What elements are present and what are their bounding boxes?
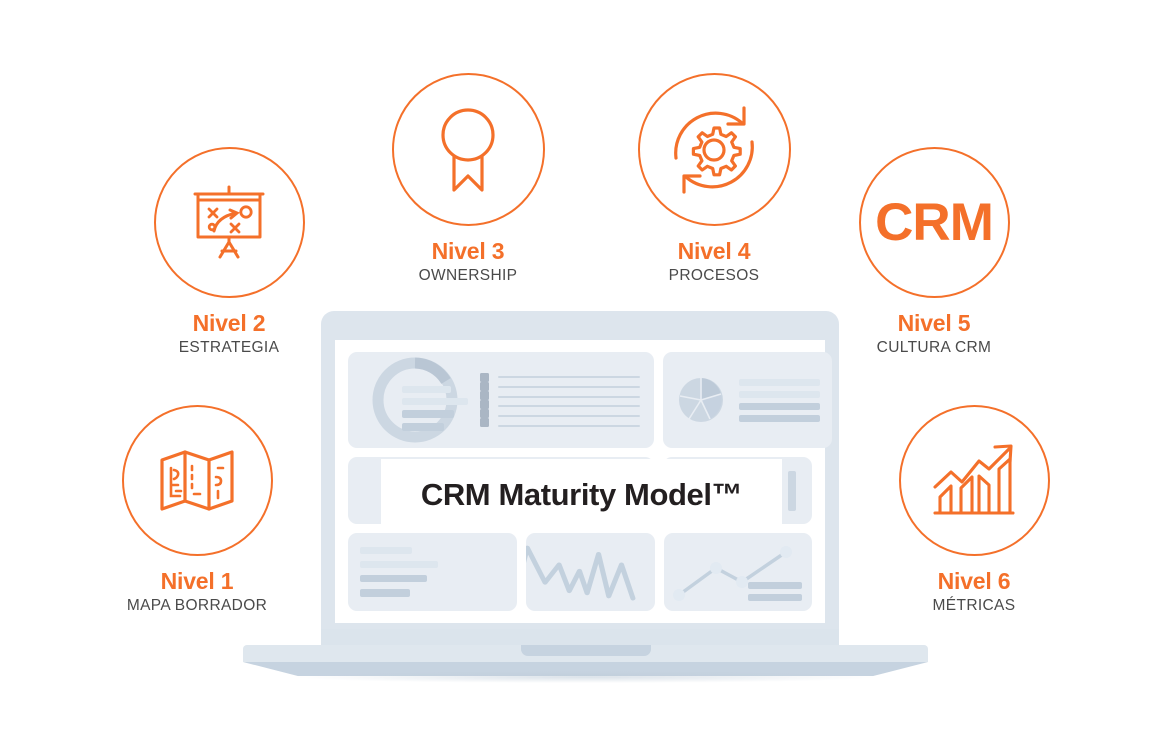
nivel-1-subtitle: MAPA BORRADOR	[127, 597, 267, 614]
donut-chart-icon	[360, 352, 470, 448]
dashboard-row-top	[348, 352, 812, 448]
bullet-square	[480, 373, 489, 382]
bullet-square	[480, 400, 489, 409]
nivel-4-subtitle: PROCESOS	[669, 267, 760, 284]
nivel-1-circle[interactable]	[122, 405, 273, 556]
crm-wordmark: CRM	[875, 196, 993, 249]
kpi-value-bars	[402, 386, 468, 431]
page-title: CRM Maturity Model™	[421, 477, 742, 513]
nivel-2-title: Nivel 2	[193, 311, 266, 335]
growth-chart-icon	[931, 441, 1017, 521]
gear-refresh-icon	[664, 100, 764, 200]
nivel-6-subtitle: MÉTRICAS	[933, 597, 1016, 614]
bullet-square	[480, 409, 489, 418]
level-node-nivel-3[interactable]: Nivel 3 OWNERSHIP	[368, 73, 568, 284]
side-indicator-bar	[788, 471, 796, 511]
nivel-4-title: Nivel 4	[678, 239, 751, 263]
folded-map-icon	[158, 446, 236, 516]
laptop-shadow	[298, 671, 873, 683]
nivel-5-title: Nivel 5	[898, 311, 971, 335]
checklist-rows	[498, 373, 640, 427]
bullet-square	[480, 391, 489, 400]
level-node-nivel-6[interactable]: Nivel 6 MÉTRICAS	[874, 405, 1074, 614]
strategy-board-icon	[189, 185, 269, 261]
laptop-trackpad-notch	[521, 645, 651, 656]
level-node-nivel-2[interactable]: Nivel 2 ESTRATEGIA	[129, 147, 329, 356]
award-ribbon-icon	[437, 106, 499, 194]
scatter-trend-card	[664, 533, 812, 611]
text-block-card	[348, 533, 517, 611]
list-item	[498, 405, 640, 407]
nivel-4-circle[interactable]	[638, 73, 791, 226]
list-item	[498, 415, 640, 417]
checklist-bullets	[480, 373, 489, 427]
dashboard-row-bottom	[348, 533, 812, 611]
nivel-5-subtitle: CULTURA CRM	[877, 339, 992, 356]
list-item	[498, 425, 640, 427]
nivel-6-circle[interactable]	[899, 405, 1050, 556]
list-item	[498, 396, 640, 398]
pie-chart-icon	[675, 374, 727, 426]
nivel-3-circle[interactable]	[392, 73, 545, 226]
pie-summary-card	[663, 352, 832, 448]
nivel-6-title: Nivel 6	[938, 569, 1011, 593]
kpi-donut-card	[348, 352, 654, 448]
list-item	[498, 386, 640, 388]
bullet-square	[480, 382, 489, 391]
checklist-card	[470, 361, 654, 439]
nivel-2-subtitle: ESTRATEGIA	[179, 339, 280, 356]
nivel-3-title: Nivel 3	[432, 239, 505, 263]
bullet-square	[480, 418, 489, 427]
level-node-nivel-1[interactable]: Nivel 1 MAPA BORRADOR	[97, 405, 297, 614]
level-node-nivel-4[interactable]: Nivel 4 PROCESOS	[614, 73, 814, 284]
zigzag-line-chart-card	[526, 533, 655, 611]
pie-legend-bars	[739, 379, 820, 422]
title-banner: CRM Maturity Model™	[381, 459, 782, 531]
infographic-canvas: CRM Maturity Model™	[0, 0, 1171, 753]
nivel-1-title: Nivel 1	[161, 569, 234, 593]
nivel-5-circle[interactable]: CRM	[859, 147, 1010, 298]
nivel-3-subtitle: OWNERSHIP	[419, 267, 518, 284]
level-node-nivel-5[interactable]: CRM Nivel 5 CULTURA CRM	[834, 147, 1034, 356]
scatter-legend-bars	[748, 582, 802, 601]
line-chart-icon	[526, 533, 655, 611]
list-item	[498, 376, 640, 378]
nivel-2-circle[interactable]	[154, 147, 305, 298]
